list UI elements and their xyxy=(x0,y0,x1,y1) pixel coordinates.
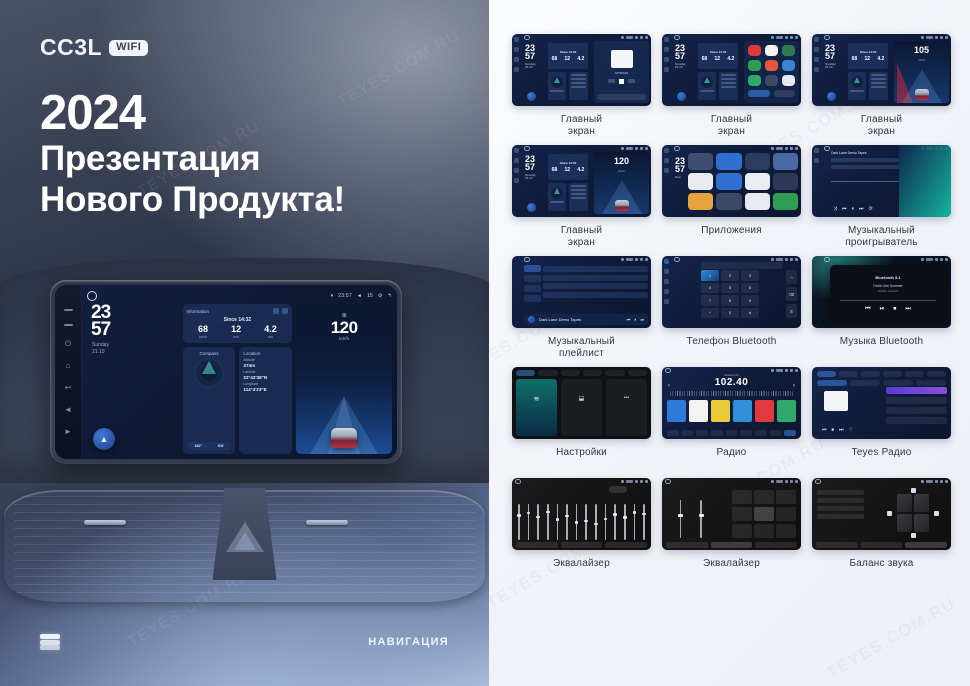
station-artwork xyxy=(824,391,848,411)
playlist-sidebar[interactable] xyxy=(524,265,541,312)
key-9: 9 xyxy=(741,295,759,306)
mini-status-bar xyxy=(674,36,798,40)
screenshot-music-player[interactable]: Dark Lane Demo Tapes ⤨ ⏮ ⏸ ⏭ ⟳ xyxy=(812,145,951,217)
mini-screen: Bluetooth 5.1 Feels Like Summer Childish… xyxy=(812,256,951,328)
gear-icon[interactable]: ⚙ xyxy=(378,293,383,299)
status-right: ▾ 23:57 ◄ 15 ⚙ ↰ xyxy=(331,293,392,299)
teyes-sub-tabs[interactable] xyxy=(817,380,946,386)
key-8: 8 xyxy=(721,295,739,306)
speaker-quadrants[interactable] xyxy=(897,494,929,532)
screenshot-equalizer-faders[interactable] xyxy=(662,478,801,550)
latitude-value: 22°42'38"N xyxy=(243,375,288,382)
key-6: 6 xyxy=(741,283,759,294)
hazard-triangle-inner xyxy=(234,532,256,550)
mini-screen: Dark Lane Demo Tapes ⤨ ⏮ ⏸ ⏭ ⟳ xyxy=(812,145,951,217)
stop-icon[interactable]: ⏹ xyxy=(832,427,835,433)
screenshot-grid: 2357Sunday21.10 Since 14:3268124.2 07:50… xyxy=(489,0,970,583)
gallery-caption: Музыка Bluetooth xyxy=(840,336,924,361)
gallery-caption: Баланс звука xyxy=(849,558,913,583)
clock-minutes: 57 xyxy=(87,321,179,338)
stat-distance: 4.2km xyxy=(264,325,277,339)
mini-location-card xyxy=(569,72,588,100)
bt-track: Feels Like Summer xyxy=(830,284,946,288)
playback-controls[interactable]: ⤨ ⏮ ⏸ ⏭ ⟳ xyxy=(833,206,873,212)
mini-speed: 105 xyxy=(894,46,949,55)
pause-icon[interactable]: ⏸ xyxy=(634,317,636,322)
gallery-item[interactable]: 2357Sunday21.10 Since 14:3268124.2 120 k… xyxy=(512,145,651,250)
card-actions[interactable] xyxy=(273,308,288,314)
balance-front-handle[interactable] xyxy=(911,488,916,493)
clock-day: Sunday xyxy=(87,342,179,349)
mini-clock: 2357Sunday21.10 xyxy=(825,44,836,70)
gallery-item[interactable]: 2357Sun xyxy=(662,145,801,250)
mini-main: 2357Sunday21.10 Since 14:3268124.2 07:50… xyxy=(521,34,651,106)
station-list[interactable] xyxy=(886,387,947,435)
information-card[interactable]: Information Since 14:32 xyxy=(183,304,293,343)
screenshot-settings[interactable]: ≋ ⬓ ••• xyxy=(512,367,651,439)
mini-status-bar xyxy=(515,480,648,484)
mini-location-card xyxy=(569,183,588,211)
mini-drive-pane: 105 km/h xyxy=(894,41,949,103)
gallery-caption: Телефон Bluetooth xyxy=(687,336,777,361)
speed-unit: km/h xyxy=(296,336,392,341)
next-icon[interactable]: ⏭ xyxy=(859,206,864,212)
equalizer-footer-tabs[interactable] xyxy=(816,542,947,548)
vent-slider-left xyxy=(84,520,126,525)
gallery-item[interactable]: 2357Sunday21.10 Since 14:3268124.2 105 k… xyxy=(812,34,951,139)
gallery-caption: Эквалайзер xyxy=(703,558,760,583)
gallery-item[interactable]: 2357Sunday21.10 Since 14:3268124.2 xyxy=(662,34,801,139)
screenshot-home-media[interactable]: 2357Sunday21.10 Since 14:3268124.2 07:50… xyxy=(512,34,651,106)
carplay-tile[interactable]: ⬓ xyxy=(561,379,602,436)
hero-headline: 2024 Презентация Нового Продукта! xyxy=(40,88,345,220)
mini-screen: 2357Sunday21.10 Since 14:3268124.2 xyxy=(662,34,801,106)
mini-status-bar xyxy=(665,369,798,373)
gallery-caption: Главныйэкран xyxy=(711,114,752,139)
now-playing-bar[interactable]: Dark Lane Demo Tapes ⏮ ⏸ ⏭ xyxy=(524,314,648,325)
balance-rear-handle[interactable] xyxy=(911,533,916,538)
screenshot-bt-music[interactable]: Bluetooth 5.1 Feels Like Summer Childish… xyxy=(812,256,951,328)
track-title: Dark Lane Demo Tapes xyxy=(831,151,899,155)
headline-year: 2024 xyxy=(40,88,345,139)
playlist-rows[interactable] xyxy=(543,266,648,312)
compass-direction: SW xyxy=(218,444,224,448)
gallery-caption: Радио xyxy=(717,447,747,472)
layers-icon xyxy=(40,634,60,650)
balance-left-handle[interactable] xyxy=(887,511,892,516)
next-icon[interactable]: ⏭ xyxy=(905,306,910,313)
frequency-scale[interactable] xyxy=(670,391,793,396)
information-header: Information xyxy=(187,308,289,314)
mini-location-card xyxy=(869,72,888,100)
mini-main xyxy=(662,478,801,550)
screenshot-music-playlist[interactable]: Dark Lane Demo Tapes ⏮ ⏸ ⏭ xyxy=(512,256,651,328)
compass-heading: 180° xyxy=(194,444,201,448)
mini-rail xyxy=(812,34,821,106)
mini-nav-fab xyxy=(527,203,536,212)
mini-speed: 120 xyxy=(594,157,649,166)
watermark: TEYES.COM.RU xyxy=(335,27,463,111)
gallery-caption: Главныйэкран xyxy=(561,114,602,139)
volume-level: 15 xyxy=(367,293,373,299)
back-icon[interactable]: ↰ xyxy=(388,293,392,299)
now-playing-title: Dark Lane Demo Tapes xyxy=(539,317,581,322)
mini-main: Dark Lane Demo Tapes ⏮ ⏸ ⏭ xyxy=(521,256,651,328)
key-2: 2 xyxy=(721,270,739,281)
wifi-tile[interactable]: ≋ xyxy=(516,379,557,436)
equalizer-band-sliders[interactable] xyxy=(518,494,645,540)
mini-information-card: Since 14:3268124.2 xyxy=(548,154,588,180)
mini-screen: 2357Sunday21.10 Since 14:3268124.2 120 k… xyxy=(512,145,651,217)
teyes-controls[interactable]: ⏮ ⏹ ⏭ ♡ xyxy=(822,427,853,433)
screenshot-gallery-panel: TEYES.COM.RU TEYES.COM.RU TEYES.COM.RU T… xyxy=(489,0,970,686)
radio-toolbar[interactable] xyxy=(667,430,796,436)
mini-main: 1 2 3 4 5 6 7 8 9 * 0 # xyxy=(671,256,801,328)
mini-rail xyxy=(662,145,671,217)
key-4: 4 xyxy=(701,283,719,294)
status-bar: ▾ 23:57 ◄ 15 ⚙ ↰ xyxy=(87,290,392,301)
mini-main: 2357Sunday21.10 Since 14:3268124.2 xyxy=(671,34,801,106)
presentation-page: TEYES.COM.RU TEYES.COM.RU TEYES.COM.RU C… xyxy=(0,0,970,686)
preset-toggle[interactable] xyxy=(609,486,627,493)
mini-clock: 2357Sunday21.10 xyxy=(675,44,686,70)
longitude-value: 114°4'23"E xyxy=(243,387,288,394)
mini-rail xyxy=(512,34,521,106)
gallery-caption: Главныйэкран xyxy=(561,225,602,250)
expand-icon[interactable] xyxy=(282,308,288,314)
mini-screen xyxy=(662,478,801,550)
next-icon[interactable]: ⏭ xyxy=(640,317,644,322)
mini-status-bar xyxy=(824,258,948,262)
mini-status-bar xyxy=(815,480,948,484)
stop-icon[interactable]: ⏹ xyxy=(893,306,896,313)
head-unit-bezel: ⏻ ⌂ ↩ ◄ ► ▾ 23:57 xyxy=(50,280,402,464)
mini-screen: 2357Sunday21.10 Since 14:3268124.2 07:50… xyxy=(512,34,651,106)
call-icon[interactable]: ✆ xyxy=(786,304,797,318)
key-star: * xyxy=(701,308,719,319)
power-icon[interactable]: ⏻ xyxy=(64,339,73,348)
mini-app-pane xyxy=(744,41,799,103)
screenshot-balance[interactable] xyxy=(812,478,951,550)
gallery-caption: Музыкальныйпроигрыватель xyxy=(845,225,917,250)
dial-input[interactable] xyxy=(701,262,783,269)
screenshot-home-drive-120[interactable]: 2357Sunday21.10 Since 14:3268124.2 120 k… xyxy=(512,145,651,217)
dial-side-actions[interactable]: ☆ ⌫ ✆ xyxy=(786,270,797,318)
bt-music-card: Bluetooth 5.1 Feels Like Summer Childish… xyxy=(830,265,946,322)
mini-compass-card xyxy=(548,72,566,100)
gallery-caption: Настройки xyxy=(556,447,607,472)
gallery-item[interactable]: Receive FM 102.40 ‹ › xyxy=(662,367,801,472)
compass-readout: 180° SW xyxy=(187,442,232,450)
key-3: 3 xyxy=(741,270,759,281)
mini-nav-fab xyxy=(827,92,836,101)
mini-main xyxy=(812,478,951,550)
information-title: Information xyxy=(187,309,210,314)
gallery-item[interactable]: ≋ ⬓ ••• Настройки xyxy=(512,367,651,472)
location-title: Location xyxy=(243,351,288,358)
screenshot-teyes-radio[interactable]: ⏮ ⏹ ⏭ ♡ xyxy=(812,367,951,439)
compass-card[interactable]: Compass 180° SW xyxy=(183,347,236,454)
mini-main: Bluetooth 5.1 Feels Like Summer Childish… xyxy=(821,256,951,328)
more-tile[interactable]: ••• xyxy=(606,379,647,436)
home-body: 23 57 Sunday 21.10 ▲ Informatio xyxy=(87,304,392,454)
watermark: TEYES.COM.RU xyxy=(824,595,959,683)
mini-main xyxy=(512,478,651,550)
dial-pad[interactable]: 1 2 3 4 5 6 7 8 9 * 0 # xyxy=(701,270,759,318)
head-unit-screen[interactable]: ⏻ ⌂ ↩ ◄ ► ▾ 23:57 xyxy=(55,285,397,459)
station-presets[interactable] xyxy=(667,400,796,422)
altitude-value: 374m xyxy=(243,363,288,370)
stat-speed: 68km/h xyxy=(198,325,208,339)
lower-widgets: Compass 180° SW xyxy=(183,347,293,454)
mini-clock: 2357Sunday21.10 xyxy=(525,44,536,70)
settings-columns[interactable]: ≋ ⬓ ••• xyxy=(516,379,647,436)
mini-screen: ≋ ⬓ ••• xyxy=(512,367,651,439)
mini-status-bar xyxy=(674,258,798,262)
previous-icon[interactable]: ⏮ xyxy=(865,306,870,313)
mini-main: Dark Lane Demo Tapes ⤨ ⏮ ⏸ ⏭ ⟳ xyxy=(821,145,951,217)
next-station-icon[interactable]: › xyxy=(793,383,795,389)
mini-rail xyxy=(512,145,521,217)
location-card[interactable]: Location Altitude 374m Latitude 22°42'38… xyxy=(239,347,292,454)
mini-screen: 1 2 3 4 5 6 7 8 9 * 0 # xyxy=(662,256,801,328)
gallery-item[interactable]: Dark Lane Demo Tapes ⤨ ⏮ ⏸ ⏭ ⟳ xyxy=(812,145,951,250)
previous-icon[interactable]: ⏮ xyxy=(822,427,827,433)
sound-effect-buttons[interactable] xyxy=(732,490,796,538)
key-0: 0 xyxy=(721,308,739,319)
gallery-item[interactable]: ⏮ ⏹ ⏭ ♡ Teyes Радио xyxy=(812,367,951,472)
mini-status-bar xyxy=(524,36,648,40)
back-icon[interactable]: ↩ xyxy=(64,383,73,392)
minus-button[interactable] xyxy=(64,309,73,311)
mini-rail xyxy=(812,145,821,217)
screenshot-equalizer-bars[interactable] xyxy=(512,478,651,550)
refresh-icon[interactable] xyxy=(273,308,279,314)
mini-main: Receive FM 102.40 ‹ › xyxy=(662,367,801,439)
navigation-label: НАВИГАЦИЯ xyxy=(368,636,449,648)
settings-tabs[interactable] xyxy=(516,370,647,376)
clock-column: 23 57 Sunday 21.10 ▲ xyxy=(87,304,179,454)
left-hero-panel: TEYES.COM.RU TEYES.COM.RU TEYES.COM.RU C… xyxy=(0,0,489,686)
gallery-caption: Главныйэкран xyxy=(861,114,902,139)
balance-preset-list[interactable] xyxy=(817,490,864,522)
clock-date: 21.10 xyxy=(87,349,179,356)
status-time: 23:57 xyxy=(338,293,352,299)
prev-station-icon[interactable]: ‹ xyxy=(668,383,670,389)
headline-line-1: Презентация xyxy=(40,139,345,180)
repeat-icon[interactable]: ⟳ xyxy=(869,206,873,212)
mini-screen: Dark Lane Demo Tapes ⏮ ⏸ ⏭ xyxy=(512,256,651,328)
compass-cone xyxy=(202,361,216,374)
volume-icon: ◄ xyxy=(357,293,362,299)
key-5: 5 xyxy=(721,283,739,294)
mini-main: 2357Sun xyxy=(671,145,801,217)
key-hash: # xyxy=(741,308,759,319)
favorite-icon[interactable]: ♡ xyxy=(849,427,853,433)
mini-screen: Receive FM 102.40 ‹ › xyxy=(662,367,801,439)
wifi-icon: ▾ xyxy=(331,293,334,299)
mini-compass-card xyxy=(698,72,716,100)
stat-time: 12min xyxy=(231,325,241,339)
bt-controls[interactable]: ⏮ ⏯ ⏹ ⏭ xyxy=(830,306,946,313)
track-list[interactable]: Dark Lane Demo Tapes xyxy=(831,151,899,213)
mini-screen: ⏮ ⏹ ⏭ ♡ xyxy=(812,367,951,439)
mini-compass-card xyxy=(848,72,866,100)
mini-clock: 2357Sunday21.10 xyxy=(525,155,536,181)
gallery-item[interactable]: Эквалайзер xyxy=(662,478,801,583)
radio-dial: Receive FM 102.40 xyxy=(662,374,801,388)
mini-status-bar xyxy=(665,480,798,484)
home-circle-icon[interactable] xyxy=(87,291,97,301)
mini-screen: 2357Sun xyxy=(662,145,801,217)
drive-assist-panel[interactable]: ⊕ 120 km/h xyxy=(296,304,392,454)
play-pause-icon[interactable]: ⏯ xyxy=(880,306,885,313)
fader-sliders[interactable] xyxy=(670,490,712,538)
previous-icon[interactable]: ⏮ xyxy=(627,317,631,322)
volume-down-icon[interactable]: ◄ xyxy=(64,405,73,414)
widget-column: Information Since 14:32 xyxy=(183,304,293,454)
key-1: 1 xyxy=(701,270,719,281)
gallery-caption: Teyes Радио xyxy=(852,447,912,472)
mini-rail xyxy=(812,256,821,328)
previous-icon[interactable]: ⏮ xyxy=(842,206,847,212)
key-7: 7 xyxy=(701,295,719,306)
speed-value: 120 xyxy=(296,319,392,336)
mini-clock: 2357Sun xyxy=(675,157,685,179)
mini-nav-fab xyxy=(677,92,686,101)
compass-dial xyxy=(194,358,224,388)
shuffle-icon[interactable]: ⤨ xyxy=(833,206,837,212)
mini-screen xyxy=(512,478,651,550)
equalizer-footer-tabs[interactable] xyxy=(516,542,647,548)
mini-main: 2357Sunday21.10 Since 14:3268124.2 105 k… xyxy=(821,34,951,106)
screenshot-home-apps[interactable]: 2357Sunday21.10 Since 14:3268124.2 xyxy=(662,34,801,106)
pause-icon[interactable]: ⏸ xyxy=(852,206,855,212)
equalizer-footer-tabs[interactable] xyxy=(666,542,797,548)
volume-up-icon[interactable]: ► xyxy=(64,427,73,436)
mini-compass-card xyxy=(548,183,566,211)
mini-information-card: Since 14:3268124.2 xyxy=(698,43,738,69)
mini-information-card: Since 14:3268124.2 xyxy=(848,43,888,69)
backspace-icon[interactable]: ⌫ xyxy=(786,287,797,301)
gallery-item[interactable]: Dark Lane Demo Tapes ⏮ ⏸ ⏭ Музыкальныйпл… xyxy=(512,256,651,361)
gallery-item[interactable]: Bluetooth 5.1 Feels Like Summer Childish… xyxy=(812,256,951,361)
eject-button[interactable] xyxy=(64,324,73,326)
mini-rail[interactable] xyxy=(662,256,671,328)
screenshot-bt-phone[interactable]: 1 2 3 4 5 6 7 8 9 * 0 # xyxy=(662,256,801,328)
mini-screen: 2357Sunday21.10 Since 14:3268124.2 105 k… xyxy=(812,34,951,106)
mini-status-bar xyxy=(524,258,648,262)
mini-status-bar xyxy=(524,147,648,151)
mini-screen xyxy=(812,478,951,550)
music-visualizer xyxy=(899,145,951,217)
gallery-item[interactable]: Баланс звука xyxy=(812,478,951,583)
teyes-top-tabs[interactable] xyxy=(817,371,946,377)
album-art xyxy=(528,316,535,323)
headline-line-2: Нового Продукта! xyxy=(40,180,345,221)
bt-artist: Childish Gambino xyxy=(830,290,946,293)
vent-slider-right xyxy=(306,520,348,525)
since-label: Since 14:32 xyxy=(187,317,289,323)
navigation-fab[interactable]: ▲ xyxy=(93,428,115,450)
screenshot-home-drive-105[interactable]: 2357Sunday21.10 Since 14:3268124.2 105 k… xyxy=(812,34,951,106)
mini-main: ≋ ⬓ ••• xyxy=(512,367,651,439)
gallery-item[interactable]: Эквалайзер xyxy=(512,478,651,583)
screenshot-apps[interactable]: 2357Sun xyxy=(662,145,801,217)
speed-readout: ⊕ 120 km/h xyxy=(296,312,392,341)
hero-footer: НАВИГАЦИЯ xyxy=(0,590,489,686)
radio-frequency: 102.40 xyxy=(715,377,749,388)
gallery-item[interactable]: 1 2 3 4 5 6 7 8 9 * 0 # xyxy=(662,256,801,361)
balance-pad[interactable] xyxy=(891,488,935,538)
mini-rail xyxy=(662,34,671,106)
mini-drive-pane: 120 km/h xyxy=(594,152,649,214)
bt-version: Bluetooth 5.1 xyxy=(830,265,946,280)
gallery-caption: Эквалайзер xyxy=(553,558,610,583)
head-unit-display: ▾ 23:57 ◄ 15 ⚙ ↰ 23 xyxy=(82,285,397,459)
balance-right-handle[interactable] xyxy=(934,511,939,516)
home-icon[interactable]: ⌂ xyxy=(64,361,73,370)
screenshot-radio[interactable]: Receive FM 102.40 ‹ › xyxy=(662,367,801,439)
progress-bar[interactable] xyxy=(840,300,936,301)
app-drawer-grid[interactable] xyxy=(688,153,798,213)
favorite-icon[interactable]: ☆ xyxy=(786,270,797,284)
mini-status-bar xyxy=(674,147,798,151)
mini-main: 2357Sunday21.10 Since 14:3268124.2 120 k… xyxy=(521,145,651,217)
logo-text: CC3L xyxy=(40,34,102,61)
wifi-badge: WIFI xyxy=(109,40,148,56)
head-unit-ui: ⏻ ⌂ ↩ ◄ ► ▾ 23:57 xyxy=(55,285,397,459)
mini-location-card xyxy=(719,72,738,100)
compass-title: Compass xyxy=(199,351,218,356)
next-icon[interactable]: ⏭ xyxy=(839,427,844,433)
mini-main: ⏮ ⏹ ⏭ ♡ xyxy=(812,367,951,439)
gallery-caption: Музыкальныйплейлист xyxy=(548,336,615,361)
mini-information-card: Since 14:3268124.2 xyxy=(548,43,588,69)
car-illustration xyxy=(331,428,357,448)
mini-status-bar xyxy=(824,36,948,40)
gallery-item[interactable]: 2357Sunday21.10 Since 14:3268124.2 07:50… xyxy=(512,34,651,139)
product-logo: CC3L WIFI xyxy=(40,34,148,61)
mini-rail xyxy=(512,256,521,328)
mini-media-pane: 07:50 FM xyxy=(594,41,649,103)
mini-nav-fab xyxy=(527,92,536,101)
trip-stats: 68km/h 12min 4.2km xyxy=(187,325,289,339)
hardware-button-rail[interactable]: ⏻ ⌂ ↩ ◄ ► xyxy=(55,285,82,459)
gallery-caption: Приложения xyxy=(701,225,762,250)
